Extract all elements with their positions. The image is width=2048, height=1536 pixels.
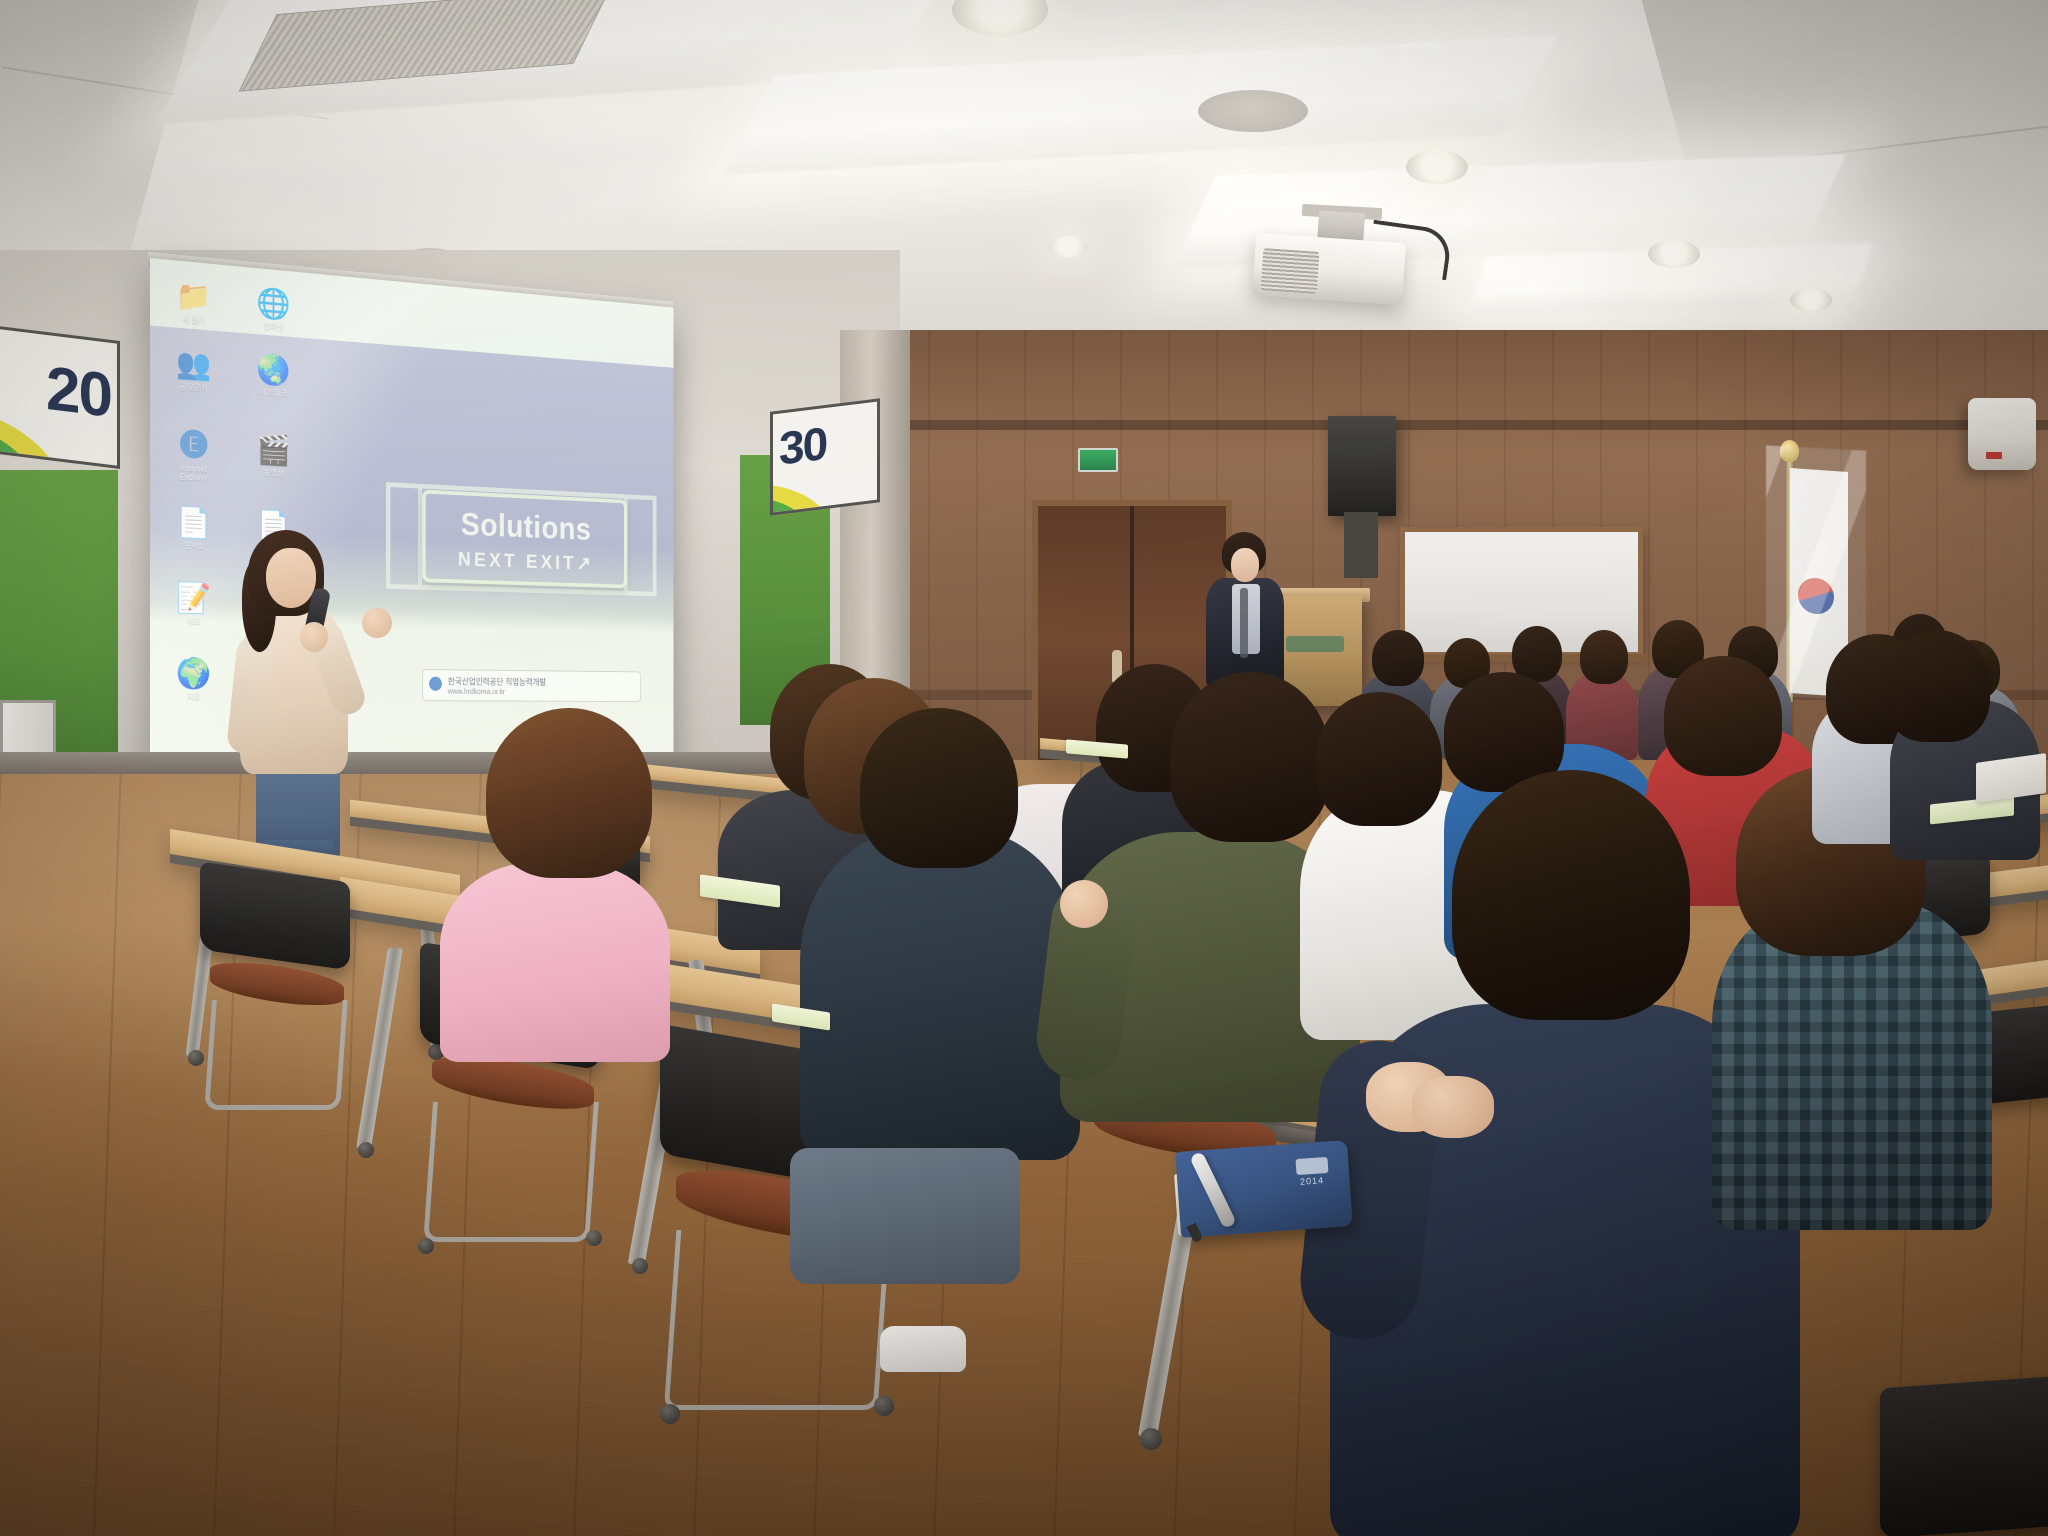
banner-right-number: 30 [779,416,826,476]
chair-back[interactable] [1880,1372,2048,1536]
document-label: 문서1 [169,541,218,552]
presenter-right-hand [362,608,392,638]
wall-baseboard [0,752,900,774]
notes-icon[interactable]: 📝 메모 [175,581,213,637]
chair-frame [423,1102,599,1242]
speaker-badge [1986,452,2002,459]
people-glyph: 👥 [175,346,213,384]
sign-subtitle: NEXT EXIT↗ [426,546,624,576]
people-icon[interactable]: 👥 공유문서 [175,346,213,404]
internet-glyph: 🌐 [255,286,292,324]
wall-trim-band [880,420,2048,430]
sign-title: Solutions [426,505,624,549]
emergency-exit-sign [1078,448,1118,472]
wall-banner-left: 20 [0,325,120,469]
audience-hand [1060,880,1108,928]
desk-caster-icon [632,1258,648,1274]
audience-hair [860,708,1018,868]
desk-caster-icon [188,1050,204,1066]
ceiling-vent-icon [1198,90,1308,132]
document-glyph: 📄 [175,505,213,542]
presenter-left-hand [300,622,328,652]
internet-explorer-icon[interactable]: 🌐 인터넷 [255,286,292,344]
earth-glyph: 🌍 [175,656,213,692]
folder-icon[interactable]: 📁 새 폴더 [175,278,213,337]
highway-sign-graphic: Solutions NEXT EXIT↗ [422,490,627,589]
chair-caster-icon [586,1230,602,1246]
exit-arrow-icon: ↗ [577,553,594,575]
audience-torso [800,830,1080,1160]
desk-caster-icon [1140,1428,1162,1450]
planner-emblem-icon [1295,1157,1328,1175]
audience-hands [1412,1076,1494,1138]
chair-caster-icon [660,1404,680,1424]
chair-caster-icon [418,1238,434,1254]
chair-caster-icon [874,1396,894,1416]
podium-logo [1286,636,1344,652]
media-glyph: 🎬 [255,432,292,469]
org-logo-icon [429,677,442,691]
ie-label: Internet Explorer [169,463,218,483]
media-icon[interactable]: 🎬 동영상 [255,432,292,489]
globe-icon[interactable]: 🌏 네트워크 [255,352,292,409]
audience-hair [1452,770,1690,1020]
downlight-icon [1648,240,1700,268]
audience-hair [1664,656,1782,776]
wall-speaker [1968,398,2036,470]
media-label: 동영상 [250,467,297,478]
folder-glyph: 📁 [175,278,213,317]
audience-torso [440,862,670,1062]
staff-face [1231,548,1259,582]
downlight-icon [1790,288,1832,312]
audience-hair [1316,692,1442,826]
audience-shoe [880,1326,966,1372]
projection-screen: 📁 새 폴더 🌐 인터넷 👥 공유문서 🌏 네트워크 🅔 Internet Ex… [150,258,673,778]
audience-hair [1170,672,1330,842]
projected-slide: 📁 새 폴더 🌐 인터넷 👥 공유문서 🌏 네트워크 🅔 Internet Ex… [150,258,673,778]
notes-label: 메모 [169,616,218,626]
earth-label: 지도 [169,692,218,701]
audience-head [1372,630,1424,686]
audience-hair [1884,630,1990,742]
presenter-face [266,548,316,608]
audience-head [1580,630,1628,684]
speaker-stand [1344,512,1378,578]
projector-vent-icon [1261,248,1320,294]
banner-left-number: 20 [46,353,111,432]
downlight-icon [1048,236,1088,258]
earth-icon[interactable]: 🌍 지도 [175,656,213,712]
desk-caster-icon [358,1142,374,1158]
audience-jeans [790,1148,1020,1284]
ie-glyph: 🅔 [175,427,213,465]
staff-lanyard [1240,588,1248,658]
footer-org-name: 한국산업인력공단 직업능력개발 [448,675,546,688]
downlight-icon [1406,150,1468,184]
notes-glyph: 📝 [175,581,213,618]
ie-browser-icon[interactable]: 🅔 Internet Explorer [175,427,213,485]
footer-org-url: www.hrdkorea.or.kr [448,687,505,696]
planner-year: 2014 [1300,1175,1325,1187]
sign-subtitle-text: NEXT EXIT [458,549,577,574]
wall-banner-right: 30 [770,398,880,516]
document-icon[interactable]: 📄 문서1 [175,505,213,562]
chair-frame [204,1000,348,1110]
black-pa-speaker [1328,416,1396,516]
globe-glyph: 🌏 [255,352,292,390]
seminar-room-photo: 20 30 📁 새 폴더 🌐 인터넷 [0,0,2048,1536]
audience-hair [486,708,652,878]
